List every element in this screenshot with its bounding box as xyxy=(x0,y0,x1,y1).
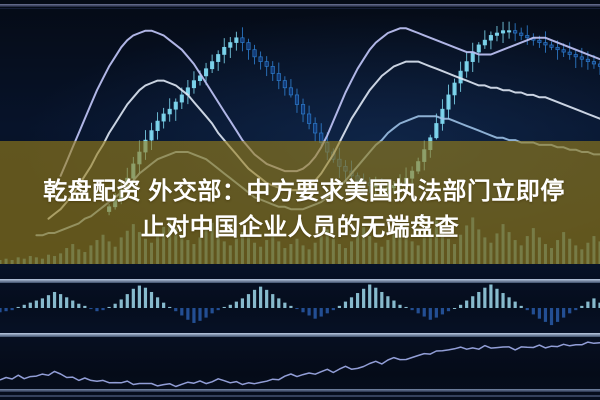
headline-line-1: 乾盘配资 外交部：中方要求美国执法部门立即停 xyxy=(35,176,565,208)
headline-line-2: 止对中国企业人员的无端盘查 xyxy=(141,212,460,244)
macd-bar-series xyxy=(0,285,600,326)
oscillator-line xyxy=(0,342,600,386)
chart-screenshot: 乾盘配资 外交部：中方要求美国执法部门立即停 止对中国企业人员的无端盘查 xyxy=(0,0,600,400)
headline-block: 乾盘配资 外交部：中方要求美国执法部门立即停 止对中国企业人员的无端盘查 xyxy=(0,141,600,264)
